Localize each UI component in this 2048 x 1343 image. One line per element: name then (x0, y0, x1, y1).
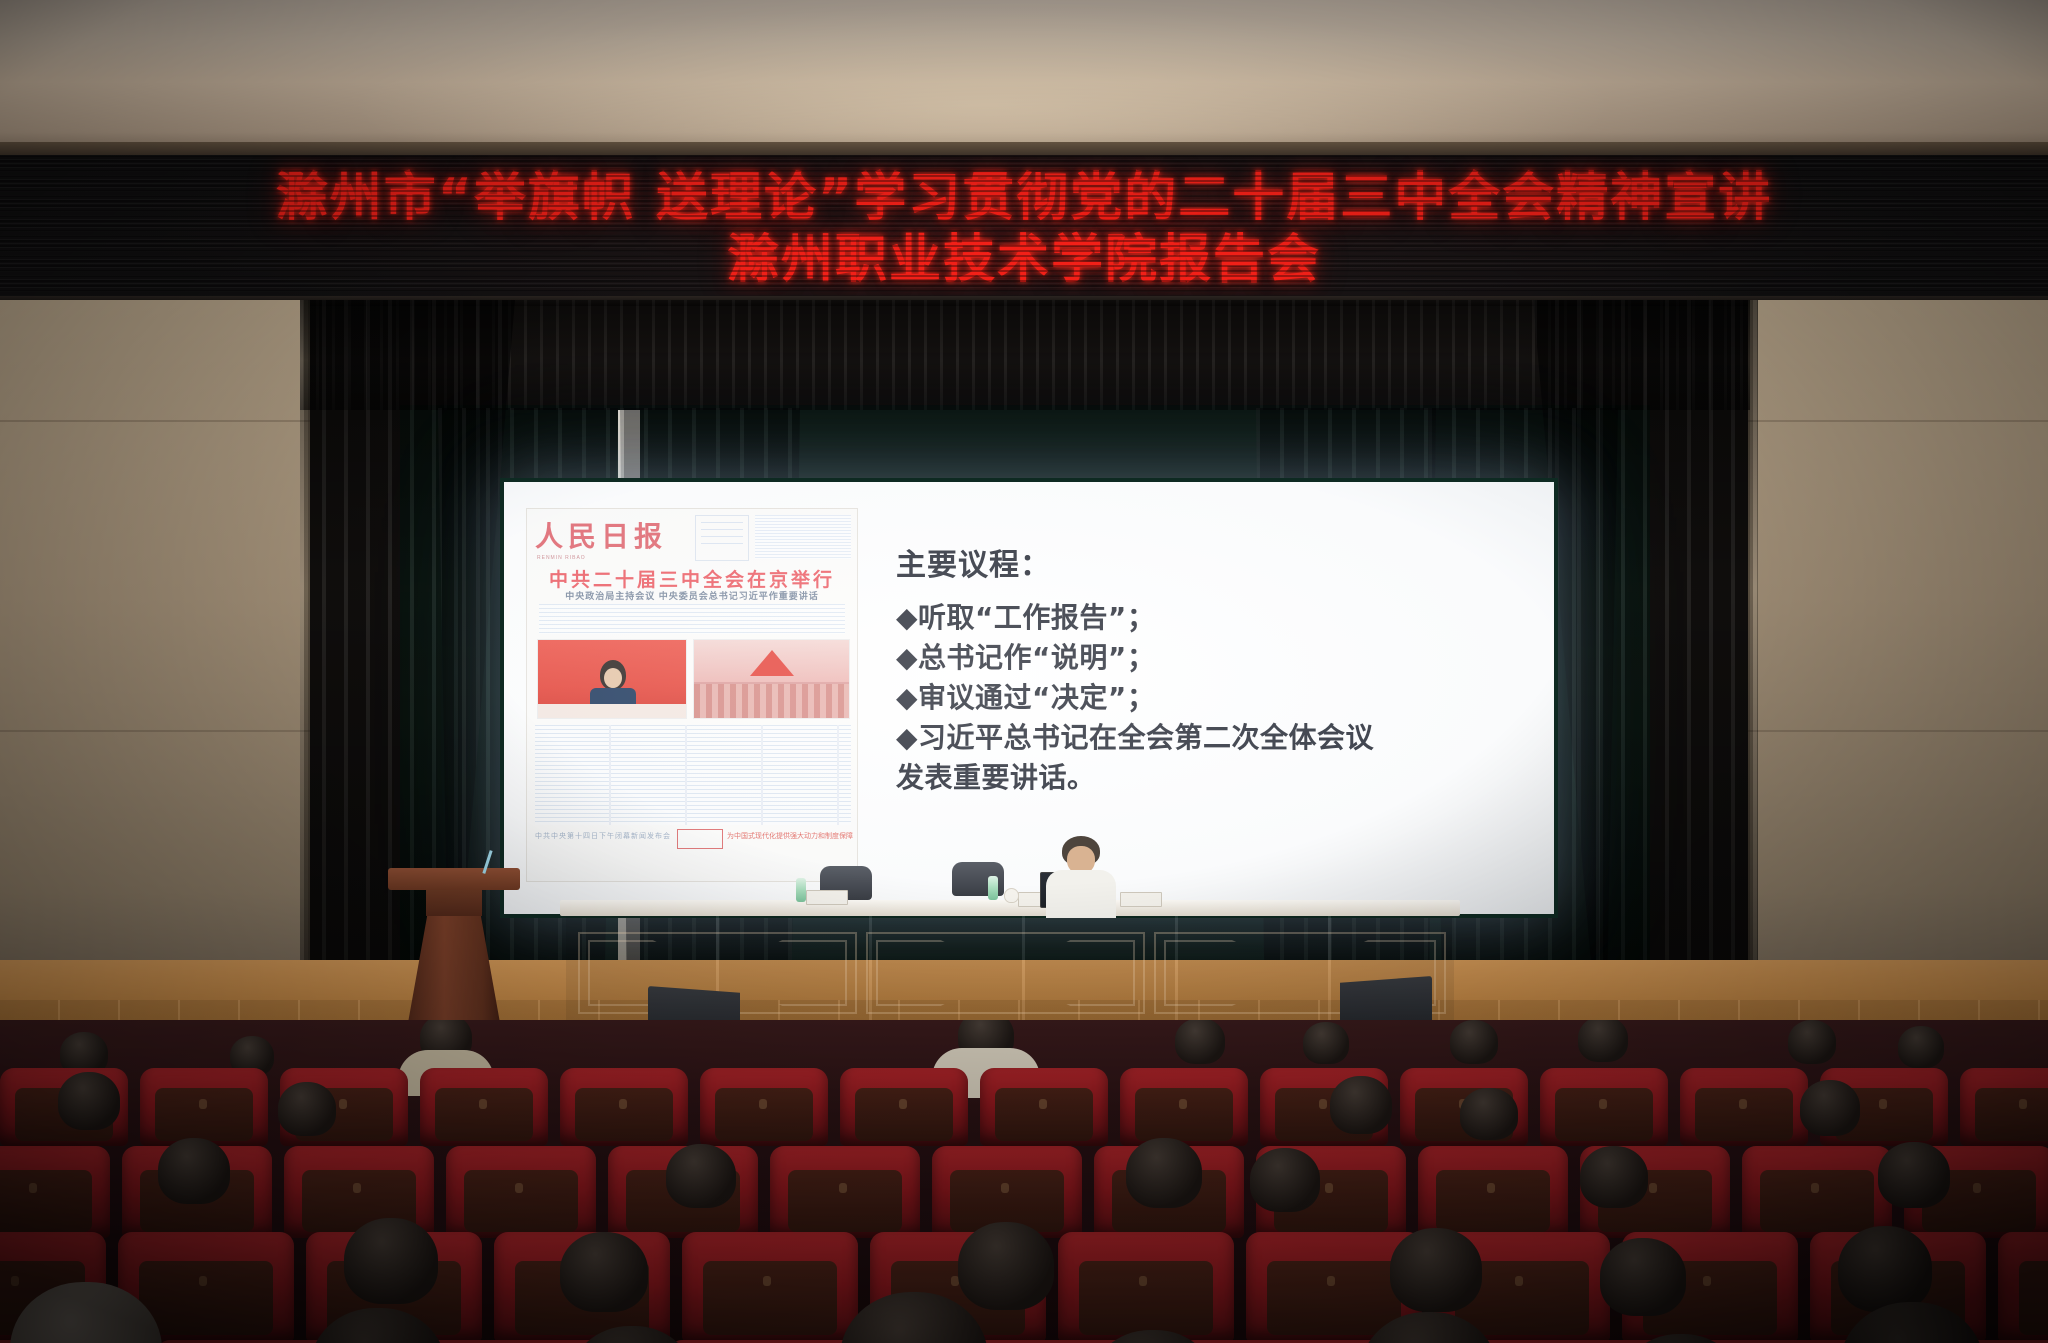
newspaper-masthead: 人民日报 (535, 515, 685, 555)
newspaper-headline: 中共二十届三中全会在京举行 (533, 565, 851, 592)
newspaper-subheadline: 中央政治局主持会议 中央委员会总书记习近平作重要讲话 (533, 589, 851, 602)
newspaper-seal-stamp (677, 829, 723, 849)
newspaper-lead-paragraph (539, 604, 845, 634)
water-bottle-left (796, 878, 806, 902)
slide-bullet-2: ◆总书记作“说明”； (896, 638, 1506, 678)
newspaper-photo-hall (693, 639, 850, 719)
newspaper-photo-portrait (537, 639, 687, 719)
auditorium-photo: 滁州市“举旗帜 送理论”学习贯彻党的二十届三中全会精神宣讲 滁州职业技术学院报告… (0, 0, 2048, 1343)
slide-bullet-4: ◆习近平总书记在全会第二次全体会议 (896, 718, 1506, 758)
slide-bullet-3: ◆审议通过“决定”； (896, 678, 1506, 718)
nameplate-right (1120, 892, 1162, 907)
nameplate-left (806, 890, 848, 905)
presenter-at-table (1042, 836, 1120, 916)
slide-bullet-1: ◆听取“工作报告”； (896, 598, 1506, 638)
water-bottle-center (988, 876, 998, 900)
projection-screen: 人民日报 RENMIN RIBAO 中共二十届三中全会在京举行 中央政治局主持会… (504, 482, 1554, 914)
newspaper-body-columns (535, 725, 851, 825)
tea-cup-left (1004, 888, 1019, 903)
audience-area (0, 1020, 2048, 1343)
slide-bullet-4-continuation: 发表重要讲话。 (896, 758, 1506, 798)
newspaper-image: 人民日报 RENMIN RIBAO 中共二十届三中全会在京举行 中央政治局主持会… (526, 508, 858, 882)
newspaper-top-column (755, 515, 851, 559)
newspaper-footer-note: 为中国式现代化提供强大动力和制度保障 (727, 831, 853, 841)
red-valance-curtain (300, 300, 1750, 410)
newspaper-masthead-pinyin: RENMIN RIBAO (537, 555, 586, 561)
led-banner: 滁州市“举旗帜 送理论”学习贯彻党的二十届三中全会精神宣讲 滁州职业技术学院报告… (0, 155, 2048, 303)
slide-title: 主要议程： (896, 540, 1506, 584)
slide-agenda-block: 主要议程： ◆听取“工作报告”； ◆总书记作“说明”； ◆审议通过“决定”； ◆… (896, 540, 1506, 798)
led-banner-line-2: 滁州职业技术学院报告会 (727, 229, 1321, 291)
ceiling (0, 0, 2048, 150)
led-banner-line-1: 滁州市“举旗帜 送理论”学习贯彻党的二十届三中全会精神宣讲 (276, 167, 1772, 229)
wall-panel-right (1748, 300, 2048, 1040)
wall-panel-left (0, 300, 310, 1040)
podium (400, 868, 508, 1040)
projection-screen-frame: 人民日报 RENMIN RIBAO 中共二十届三中全会在京举行 中央政治局主持会… (500, 478, 1558, 918)
newspaper-index-box (695, 515, 749, 561)
